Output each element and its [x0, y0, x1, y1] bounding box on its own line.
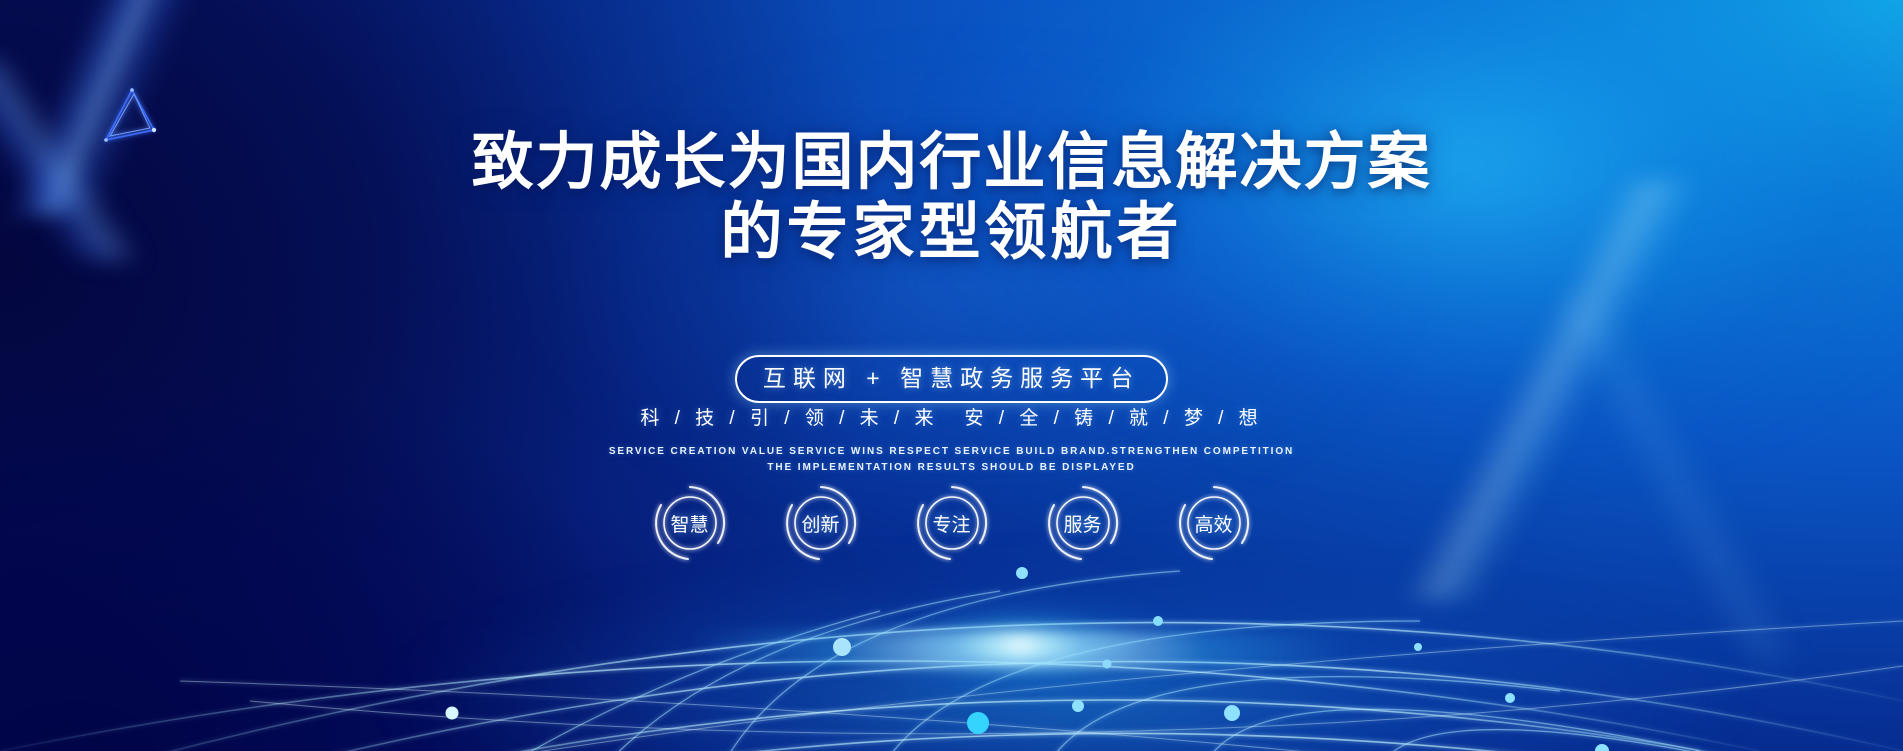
headline-line-1: 致力成长为国内行业信息解决方案 — [0, 128, 1903, 198]
value-badge-label: 高效 — [1194, 510, 1232, 537]
headline: 致力成长为国内行业信息解决方案 的专家型领航者 — [0, 128, 1903, 268]
english-caption-line-1: SERVICE CREATION VALUE SERVICE WINS RESP… — [0, 444, 1903, 460]
value-badge-chuangxin: 创新 — [783, 485, 859, 561]
value-badge-fuwu: 服务 — [1045, 485, 1121, 561]
pill-row: 互联网 + 智慧政务服务平台 — [0, 355, 1903, 403]
english-caption-line-2: THE IMPLEMENTATION RESULTS SHOULD BE DIS… — [0, 460, 1903, 476]
value-badge-zhuanzhu: 专注 — [914, 485, 990, 561]
slogan-left: 科 / 技 / 引 / 领 / 未 / 来 — [640, 408, 938, 429]
headline-line-2: 的专家型领航者 — [0, 198, 1903, 268]
value-badge-row: 智慧 创新 — [0, 485, 1903, 561]
slogan-right: 安 / 全 / 铸 / 就 / 梦 / 想 — [965, 408, 1263, 429]
value-badge-label: 服务 — [1063, 510, 1101, 537]
value-badge-zhihui: 智慧 — [652, 485, 728, 561]
english-caption: SERVICE CREATION VALUE SERVICE WINS RESP… — [0, 444, 1903, 476]
banner-content: 致力成长为国内行业信息解决方案 的专家型领航者 互联网 + 智慧政务服务平台 科… — [0, 0, 1903, 751]
value-badge-label: 智慧 — [670, 510, 708, 537]
slogan-line: 科 / 技 / 引 / 领 / 未 / 来安 / 全 / 铸 / 就 / 梦 /… — [0, 405, 1903, 433]
platform-pill-badge: 互联网 + 智慧政务服务平台 — [735, 355, 1168, 403]
value-badge-gaoxiao: 高效 — [1176, 485, 1252, 561]
value-badge-label: 专注 — [932, 510, 970, 537]
hero-banner: 致力成长为国内行业信息解决方案 的专家型领航者 互联网 + 智慧政务服务平台 科… — [0, 0, 1903, 751]
value-badge-label: 创新 — [801, 510, 839, 537]
